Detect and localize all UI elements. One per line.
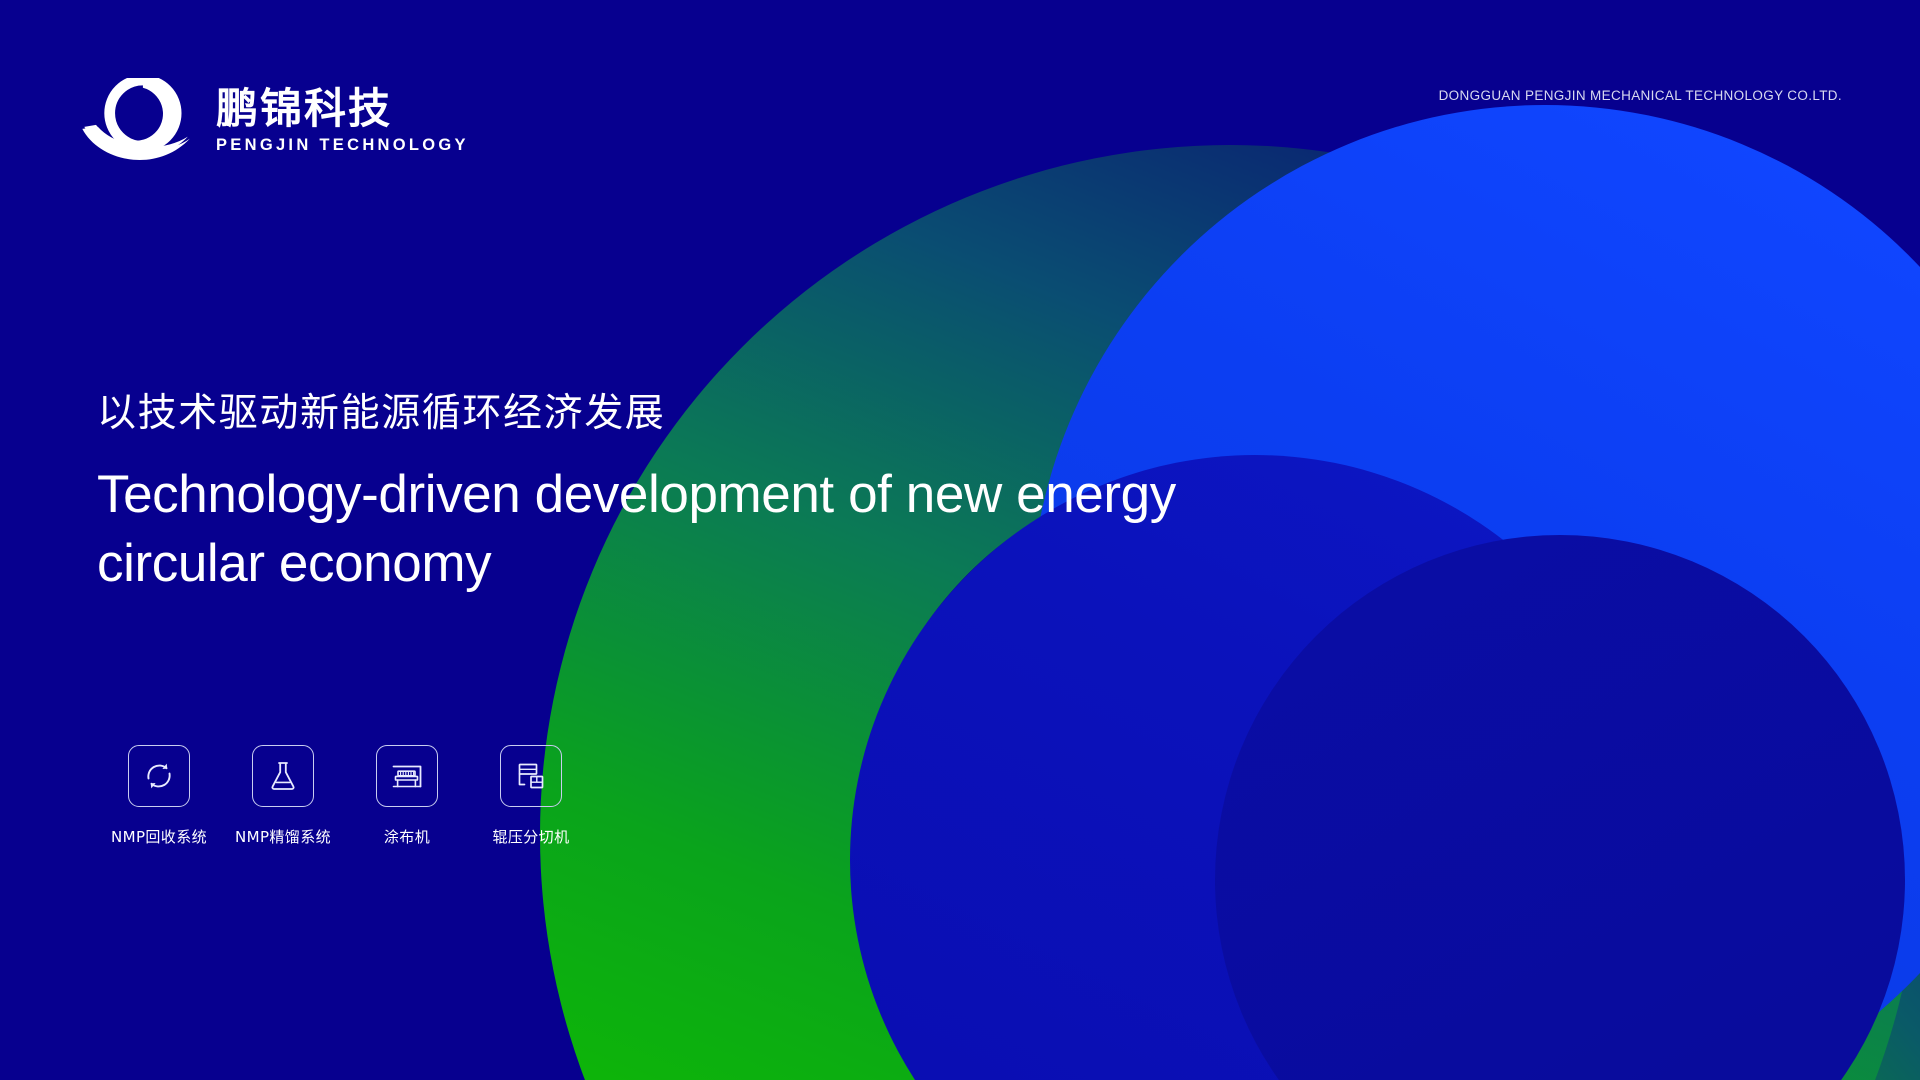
- feature-item-nmp-distillation[interactable]: NMP精馏系统: [221, 745, 345, 847]
- headline-chinese: 以技术驱动新能源循环经济发展: [97, 390, 1277, 439]
- feature-icon-box: [500, 745, 562, 807]
- brand-name-en: PENGJIN TECHNOLOGY: [216, 136, 469, 155]
- feature-list: NMP回收系统 NMP精馏系统: [97, 745, 593, 847]
- feature-icon-box: [252, 745, 314, 807]
- headline-english: Technology-driven development of new ene…: [97, 461, 1237, 599]
- feature-item-roller-slitting-machine[interactable]: 辊压分切机: [469, 745, 593, 847]
- feature-label: NMP精馏系统: [235, 826, 331, 847]
- tail-arc: [1600, 700, 1920, 1080]
- brand-logo-wordmark: 鹏锦科技 PENGJIN TECHNOLOGY: [216, 87, 469, 155]
- banner-stage: 鹏锦科技 PENGJIN TECHNOLOGY DONGGUAN PENGJIN…: [0, 0, 1920, 1080]
- roller-slitting-machine-icon: [514, 759, 548, 793]
- feature-label: 辊压分切机: [492, 826, 569, 847]
- company-full-name: DONGGUAN PENGJIN MECHANICAL TECHNOLOGY C…: [1439, 88, 1842, 103]
- pengjin-crescent-circle-logo-icon: [80, 78, 198, 164]
- recycle-arrows-icon: [142, 759, 176, 793]
- feature-icon-box: [128, 745, 190, 807]
- feature-item-nmp-recovery[interactable]: NMP回收系统: [97, 745, 221, 847]
- feature-label: NMP回收系统: [111, 826, 207, 847]
- flask-distillation-icon: [266, 759, 300, 793]
- brand-name-cn: 鹏锦科技: [216, 87, 469, 131]
- feature-item-coating-machine[interactable]: 涂布机: [345, 745, 469, 847]
- brand-logo[interactable]: 鹏锦科技 PENGJIN TECHNOLOGY: [80, 78, 469, 164]
- feature-label: 涂布机: [384, 826, 430, 847]
- coating-machine-icon: [389, 759, 425, 793]
- hero-headlines: 以技术驱动新能源循环经济发展 Technology-driven develop…: [97, 390, 1277, 599]
- feature-icon-box: [376, 745, 438, 807]
